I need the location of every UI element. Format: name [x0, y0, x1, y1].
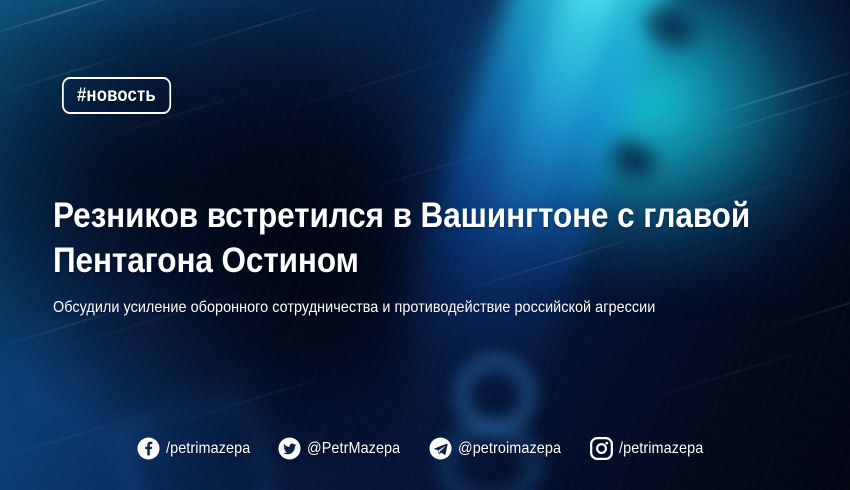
social-handle: /petrimazepa: [619, 440, 703, 458]
headline-line-2: Пентагона Остином: [53, 238, 683, 283]
card-content: #новость Резников встретился в Вашингтон…: [0, 0, 850, 490]
social-link-instagram[interactable]: /petrimazepa: [590, 437, 713, 460]
news-tag-label: #новость: [77, 85, 156, 107]
social-handle: @PetrMazepa: [307, 440, 400, 458]
page-subtitle: Обсудили усиление оборонного сотрудничес…: [53, 299, 655, 317]
social-link-twitter[interactable]: @PetrMazepa: [278, 437, 411, 460]
news-card: #новость Резников встретился в Вашингтон…: [0, 0, 850, 490]
news-tag-badge[interactable]: #новость: [62, 77, 171, 114]
headline-line-1: Резников встретился в Вашингтоне с главо…: [53, 193, 683, 238]
social-link-facebook[interactable]: /petrimazepa: [137, 437, 260, 460]
facebook-icon: [137, 437, 160, 460]
social-handle: /petrimazepa: [166, 440, 250, 458]
social-links-bar: /petrimazepa @PetrMazepa @petroimazepa: [0, 437, 850, 460]
page-title: Резников встретился в Вашингтоне с главо…: [53, 193, 683, 283]
instagram-icon: [590, 437, 613, 460]
twitter-icon: [278, 437, 301, 460]
social-link-telegram[interactable]: @petroimazepa: [429, 437, 573, 460]
telegram-icon: [429, 437, 452, 460]
social-handle: @petroimazepa: [458, 440, 561, 458]
